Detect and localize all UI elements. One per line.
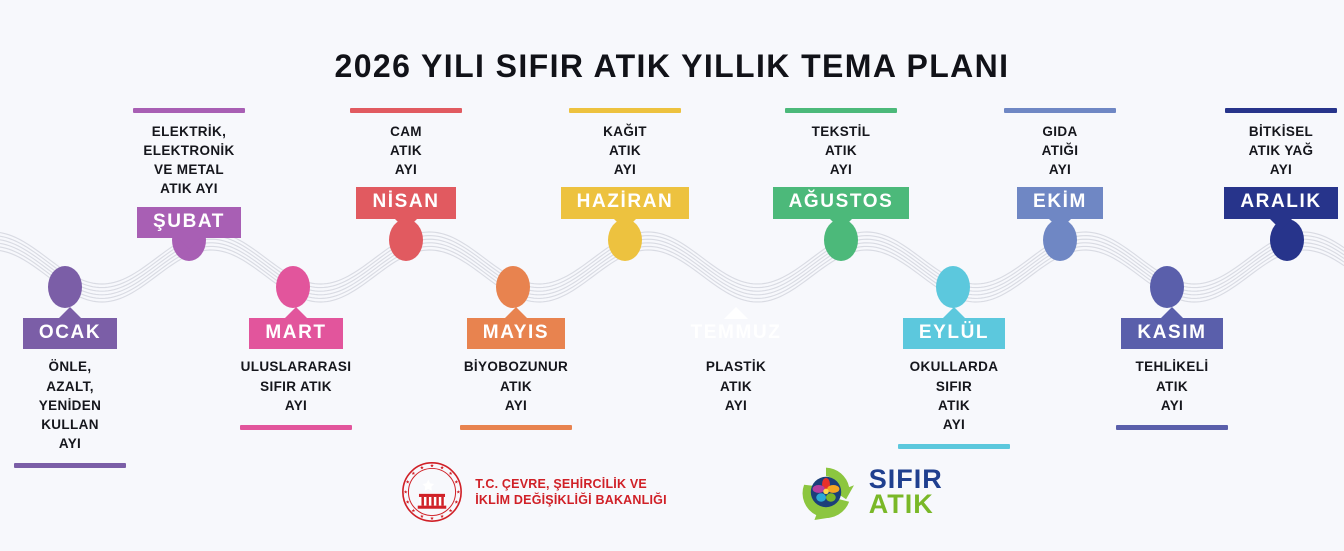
month-theme-subat: ELEKTRİK, ELEKTRONİK VE METAL ATIK AYI xyxy=(89,122,289,199)
month-badge-agustos[interactable]: AĞUSTOS xyxy=(773,187,910,218)
month-badge-aralik[interactable]: ARALIK xyxy=(1224,187,1337,218)
month-node-mart[interactable] xyxy=(276,266,310,308)
footer-logos: T.C. ÇEVRE, ŞEHİRCİLİK VE İKLİM DEĞİŞİKL… xyxy=(0,461,1344,523)
month-cluster-ocak[interactable]: OCAKÖNLE, AZALT, YENİDEN KULLAN AYI xyxy=(0,318,170,468)
month-cluster-ekim[interactable]: GIDA ATIĞI AYIEKİM xyxy=(960,108,1160,219)
month-badge-nisan[interactable]: NİSAN xyxy=(356,187,455,218)
month-theme-temmuz: PLASTİK ATIK AYI xyxy=(636,357,836,414)
month-cluster-mayis[interactable]: MAYISBİYOBOZUNUR ATIK AYI xyxy=(416,318,616,430)
month-rule-subat xyxy=(133,108,245,113)
month-badge-label-agustos: AĞUSTOS xyxy=(789,191,894,212)
month-badge-wrap-mart: MART xyxy=(249,318,342,349)
month-theme-ekim: GIDA ATIĞI AYI xyxy=(960,122,1160,179)
sifir-atik-line2: ATIK xyxy=(869,492,943,517)
month-node-eylul[interactable] xyxy=(936,266,970,308)
month-rule-temmuz xyxy=(680,425,792,430)
month-badge-wrap-agustos: AĞUSTOS xyxy=(773,187,910,218)
month-badge-temmuz[interactable]: TEMMUZ xyxy=(675,318,798,349)
month-node-temmuz[interactable] xyxy=(718,266,752,308)
month-badge-wrap-eylul: EYLÜL xyxy=(903,318,1005,349)
month-badge-label-aralik: ARALIK xyxy=(1240,191,1321,212)
month-cluster-subat[interactable]: ELEKTRİK, ELEKTRONİK VE METAL ATIK AYIŞU… xyxy=(89,108,289,238)
month-rule-ocak xyxy=(14,463,126,468)
month-rule-agustos xyxy=(785,108,897,113)
month-badge-label-ekim: EKİM xyxy=(1033,191,1087,212)
month-rule-eylul xyxy=(898,444,1010,449)
month-badge-eylul[interactable]: EYLÜL xyxy=(903,318,1005,349)
ministry-name: T.C. ÇEVRE, ŞEHİRCİLİK VE İKLİM DEĞİŞİKL… xyxy=(475,476,667,509)
month-badge-label-nisan: NİSAN xyxy=(372,191,439,212)
month-badge-wrap-temmuz: TEMMUZ xyxy=(675,318,798,349)
month-node-kasim[interactable] xyxy=(1150,266,1184,308)
month-cluster-eylul[interactable]: EYLÜLOKULLARDA SIFIR ATIK AYI xyxy=(854,318,1054,449)
month-theme-mayis: BİYOBOZUNUR ATIK AYI xyxy=(416,357,616,414)
month-badge-subat[interactable]: ŞUBAT xyxy=(137,207,241,238)
month-theme-haziran: KAĞIT ATIK AYI xyxy=(525,122,725,179)
month-badge-wrap-mayis: MAYIS xyxy=(467,318,565,349)
month-badge-wrap-haziran: HAZİRAN xyxy=(561,187,690,218)
month-rule-ekim xyxy=(1004,108,1116,113)
month-badge-label-mayis: MAYIS xyxy=(483,322,549,343)
month-badge-label-temmuz: TEMMUZ xyxy=(691,322,782,343)
month-theme-nisan: CAM ATIK AYI xyxy=(306,122,506,179)
month-theme-mart: ULUSLARARASI SIFIR ATIK AYI xyxy=(196,357,396,414)
month-rule-mart xyxy=(240,425,352,430)
month-cluster-kasim[interactable]: KASIMTEHLİKELİ ATIK AYI xyxy=(1072,318,1272,430)
month-badge-label-eylul: EYLÜL xyxy=(919,322,989,343)
month-theme-aralik: BİTKİSEL ATIK YAĞ AYI xyxy=(1181,122,1344,179)
month-theme-eylul: OKULLARDA SIFIR ATIK AYI xyxy=(854,357,1054,434)
month-cluster-nisan[interactable]: CAM ATIK AYINİSAN xyxy=(306,108,506,219)
month-badge-ocak[interactable]: OCAK xyxy=(23,318,117,349)
month-rule-aralik xyxy=(1225,108,1337,113)
month-badge-label-mart: MART xyxy=(265,322,326,343)
month-badge-wrap-kasim: KASIM xyxy=(1121,318,1222,349)
month-badge-wrap-subat: ŞUBAT xyxy=(137,207,241,238)
sifir-atik-logo: SIFIR ATIK xyxy=(795,464,943,520)
month-cluster-aralik[interactable]: BİTKİSEL ATIK YAĞ AYIARALIK xyxy=(1181,108,1344,219)
turkish-republic-emblem-icon xyxy=(401,461,463,523)
month-badge-label-kasim: KASIM xyxy=(1137,322,1206,343)
month-rule-kasim xyxy=(1116,425,1228,430)
month-rule-haziran xyxy=(569,108,681,113)
month-cluster-agustos[interactable]: TEKSTİL ATIK AYIAĞUSTOS xyxy=(741,108,941,219)
zero-waste-recycle-emblem-icon xyxy=(795,464,857,520)
month-badge-label-subat: ŞUBAT xyxy=(153,211,225,232)
infographic-canvas: 2026 YILI SIFIR ATIK YILLIK TEMA PLANI O… xyxy=(0,0,1344,551)
month-badge-haziran[interactable]: HAZİRAN xyxy=(561,187,690,218)
month-rule-mayis xyxy=(460,425,572,430)
month-cluster-temmuz[interactable]: TEMMUZPLASTİK ATIK AYI xyxy=(636,318,836,430)
month-badge-wrap-nisan: NİSAN xyxy=(356,187,455,218)
month-badge-mayis[interactable]: MAYIS xyxy=(467,318,565,349)
month-cluster-haziran[interactable]: KAĞIT ATIK AYIHAZİRAN xyxy=(525,108,725,219)
month-theme-agustos: TEKSTİL ATIK AYI xyxy=(741,122,941,179)
month-badge-label-ocak: OCAK xyxy=(39,322,101,343)
page-title: 2026 YILI SIFIR ATIK YILLIK TEMA PLANI xyxy=(0,48,1344,85)
sifir-atik-wordmark: SIFIR ATIK xyxy=(869,467,943,517)
month-theme-ocak: ÖNLE, AZALT, YENİDEN KULLAN AYI xyxy=(0,357,170,453)
month-badge-wrap-aralik: ARALIK xyxy=(1224,187,1337,218)
month-badge-kasim[interactable]: KASIM xyxy=(1121,318,1222,349)
month-node-ocak[interactable] xyxy=(48,266,82,308)
month-rule-nisan xyxy=(350,108,462,113)
ministry-logo: T.C. ÇEVRE, ŞEHİRCİLİK VE İKLİM DEĞİŞİKL… xyxy=(401,461,667,523)
month-badge-wrap-ekim: EKİM xyxy=(1017,187,1103,218)
month-node-mayis[interactable] xyxy=(496,266,530,308)
month-badge-mart[interactable]: MART xyxy=(249,318,342,349)
month-badge-wrap-ocak: OCAK xyxy=(23,318,117,349)
month-badge-ekim[interactable]: EKİM xyxy=(1017,187,1103,218)
month-theme-kasim: TEHLİKELİ ATIK AYI xyxy=(1072,357,1272,414)
month-cluster-mart[interactable]: MARTULUSLARARASI SIFIR ATIK AYI xyxy=(196,318,396,430)
month-badge-label-haziran: HAZİRAN xyxy=(577,191,674,212)
